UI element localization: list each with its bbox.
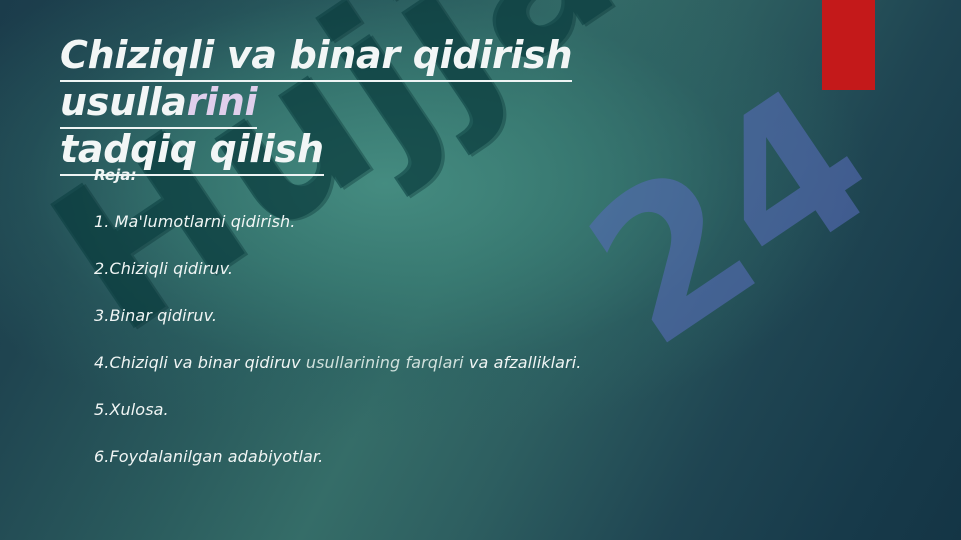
- red-accent-bar: [822, 0, 875, 90]
- agenda-item-1: 1. Ma'lumotlarni qidirish.: [94, 212, 854, 232]
- agenda-heading: Reja:: [94, 165, 854, 185]
- agenda-item-4: 4.Chiziqli va binar qidiruv usullarining…: [94, 353, 854, 373]
- slide-title: Chiziqli va binar qidirish usullarini ta…: [60, 32, 760, 173]
- presentation-slide: Hujjat 24 Chiziqli va binar qidirish usu…: [0, 0, 961, 540]
- agenda-item-2: 2.Chiziqli qidiruv.: [94, 259, 854, 279]
- slide-agenda-list: Reja: 1. Ma'lumotlarni qidirish. 2.Chizi…: [94, 165, 854, 494]
- slide-title-text-1: Chiziqli va binar qidirish usulla: [60, 33, 572, 124]
- agenda-item-5: 5.Xulosa.: [94, 400, 854, 420]
- slide-title-line: Chiziqli va binar qidirish usullarini: [60, 33, 572, 129]
- slide-title-text-tinted: rini: [187, 80, 258, 124]
- agenda-item-4-head: 4.Chiziqli va binar qidiruv: [94, 353, 306, 372]
- agenda-item-4-dim: usullarining farqlari: [306, 353, 464, 372]
- agenda-item-4-tail: va afzalliklari.: [464, 353, 582, 372]
- agenda-item-3: 3.Binar qidiruv.: [94, 306, 854, 326]
- agenda-item-6: 6.Foydalanilgan adabiyotlar.: [94, 447, 854, 467]
